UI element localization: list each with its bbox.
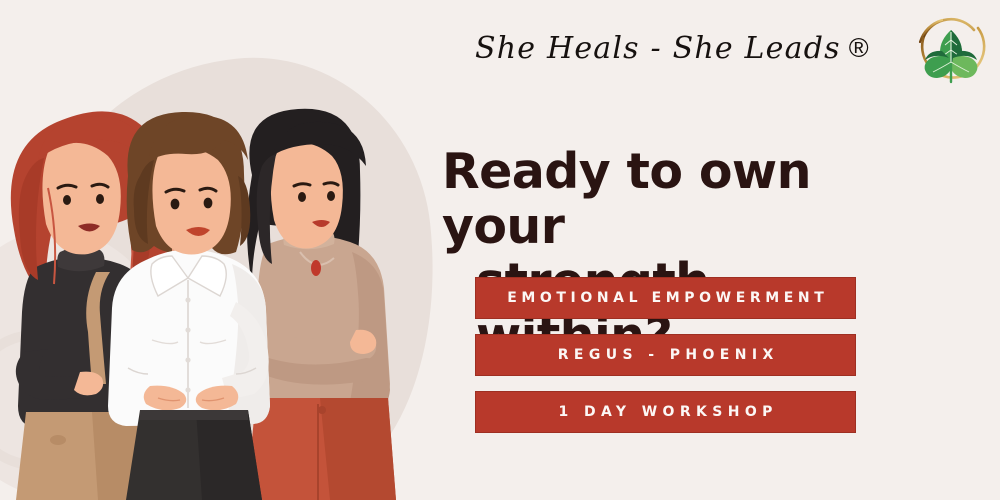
detail-bar-venue-label: REGUS - PHOENIX <box>552 347 778 363</box>
brand-name: She Heals - She Leads <box>475 31 841 66</box>
brand-lockup: She Heals - She Leads ® <box>475 18 895 78</box>
detail-bar-duration: 1 DAY WORKSHOP <box>475 391 856 433</box>
content-column: She Heals - She Leads ® <box>430 0 1000 500</box>
detail-bar-topic-label: EMOTIONAL EMPOWERMENT <box>503 290 829 306</box>
women-illustration <box>0 0 420 500</box>
detail-bar-venue: REGUS - PHOENIX <box>475 334 856 376</box>
headline-line-1: Ready to own your <box>442 143 811 255</box>
detail-bar-topic: EMOTIONAL EMPOWERMENT <box>475 277 856 319</box>
event-banner: She Heals - She Leads ® <box>0 0 1000 500</box>
detail-bars: EMOTIONAL EMPOWERMENT REGUS - PHOENIX 1 … <box>475 277 856 433</box>
registered-trademark-icon: ® <box>849 35 869 62</box>
detail-bar-duration-label: 1 DAY WORKSHOP <box>553 404 778 420</box>
leaf-emblem-logo <box>908 8 994 94</box>
